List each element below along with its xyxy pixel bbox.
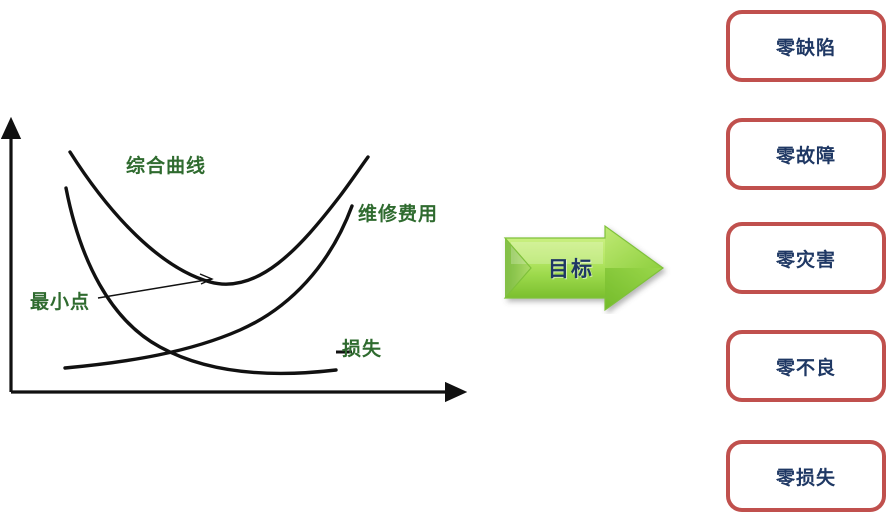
zero-goal-label: 零损失	[776, 463, 836, 490]
cost-curve-svg	[0, 0, 470, 510]
loss-label: 损失	[342, 340, 382, 359]
zero-goal-box-zero-defective[interactable]: 零不良	[726, 330, 886, 402]
goal-arrow[interactable]: 目标	[497, 222, 672, 314]
right-arrow-icon	[497, 222, 672, 314]
zero-goal-label: 零故障	[776, 141, 836, 168]
maintenance-cost-curve-path	[65, 206, 352, 368]
zero-goal-label: 零缺陷	[776, 33, 836, 60]
zero-goal-box-zero-loss[interactable]: 零损失	[726, 440, 886, 512]
zero-goal-label: 零不良	[776, 353, 836, 380]
cost-curve-diagram: 综合曲线 维修费用 最小点 损失	[0, 0, 470, 510]
zero-goal-label: 零灾害	[776, 245, 836, 272]
zero-goal-box-zero-defect[interactable]: 零缺陷	[726, 10, 886, 82]
composite-curve-path	[70, 152, 368, 284]
minimum-point-label: 最小点	[30, 293, 90, 312]
minimum-point-leader-line	[98, 279, 212, 298]
zero-goal-box-zero-accident[interactable]: 零灾害	[726, 222, 886, 294]
zero-goal-list: 零缺陷 零故障 零灾害 零不良 零损失	[726, 0, 892, 510]
maintenance-cost-label: 维修费用	[358, 205, 438, 224]
composite-curve-label: 综合曲线	[126, 157, 206, 176]
zero-goal-box-zero-breakdown[interactable]: 零故障	[726, 118, 886, 190]
